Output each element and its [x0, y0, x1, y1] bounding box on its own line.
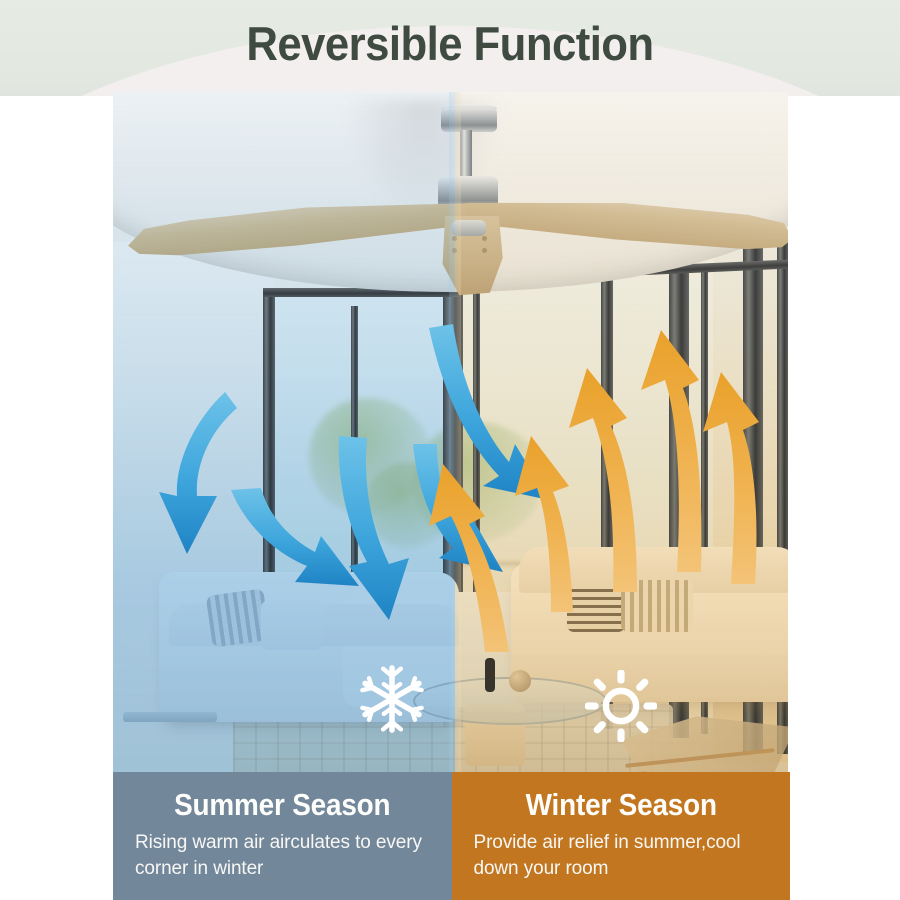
caption-summer-subtitle: Rising warm air airculates to every corn…: [135, 830, 430, 882]
caption-summer-title: Summer Season: [150, 786, 415, 824]
caption-summer: Summer Season Rising warm air airculates…: [113, 772, 452, 900]
airflow-arrows: [113, 92, 788, 776]
cool-arrow: [339, 436, 409, 620]
page-title: Reversible Function: [32, 8, 869, 80]
caption-winter-title: Winter Season: [488, 786, 753, 824]
cool-arrow: [159, 392, 237, 554]
product-scene-photo: [113, 92, 788, 776]
sun-icon: [585, 670, 657, 742]
cool-arrow: [231, 488, 359, 586]
snowflake-icon: [355, 662, 429, 736]
warm-arrow: [641, 330, 701, 572]
caption-bars: Summer Season Rising warm air airculates…: [113, 772, 790, 900]
header-band: Reversible Function: [0, 0, 900, 96]
infographic-root: Reversible Function: [0, 0, 900, 900]
caption-winter-subtitle: Provide air relief in summer,cool down y…: [474, 830, 769, 882]
warm-arrow: [569, 368, 637, 592]
caption-winter: Winter Season Provide air relief in summ…: [452, 772, 791, 900]
warm-arrow: [703, 372, 759, 584]
